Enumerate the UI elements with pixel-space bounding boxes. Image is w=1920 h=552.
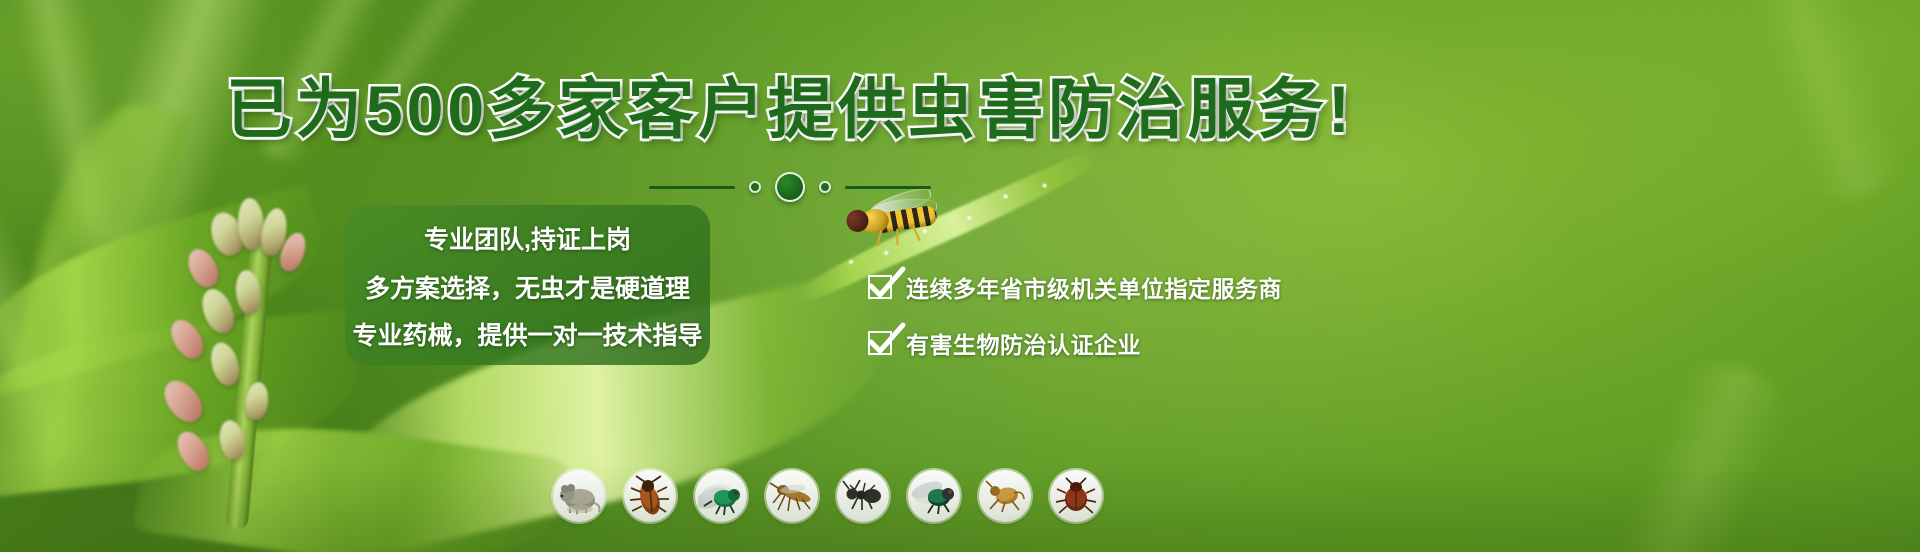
divider-line-left — [649, 186, 735, 189]
cockroach-icon[interactable] — [624, 470, 676, 522]
ant-icon[interactable] — [837, 470, 889, 522]
check-box-icon — [868, 331, 892, 355]
green-fly-icon[interactable] — [695, 470, 747, 522]
decorative-divider — [0, 172, 1580, 202]
selling-points-panel: 专业团队,持证上岗 多方案选择，无虫才是硬道理 专业药械，提供一对一技术指导 — [345, 205, 710, 365]
divider-dot-small-right — [819, 181, 831, 193]
credential-label: 连续多年省市级机关单位指定服务商 — [906, 270, 1282, 304]
mosquito-icon[interactable] — [766, 470, 818, 522]
divider-line-right — [845, 186, 931, 189]
rat-icon[interactable] — [553, 470, 605, 522]
promo-banner: 已为500多家客户提供虫害防治服务! 专业团队,持证上岗 多方案选择，无虫才是硬… — [0, 0, 1920, 552]
list-item: 有害生物防治认证企业 — [868, 326, 1282, 360]
selling-point-line: 专业团队,持证上岗 — [345, 220, 710, 256]
bedbug-icon[interactable] — [1050, 470, 1102, 522]
credentials-list: 连续多年省市级机关单位指定服务商 有害生物防治认证企业 — [868, 270, 1282, 360]
selling-point-line: 多方案选择，无虫才是硬道理 — [345, 269, 710, 305]
blowfly-icon[interactable] — [908, 470, 960, 522]
selling-point-line: 专业药械，提供一对一技术指导 — [345, 316, 710, 352]
credential-label: 有害生物防治认证企业 — [906, 326, 1141, 360]
flea-icon[interactable] — [979, 470, 1031, 522]
divider-dot-small-left — [749, 181, 761, 193]
list-item: 连续多年省市级机关单位指定服务商 — [868, 270, 1282, 304]
page-title: 已为500多家客户提供虫害防治服务! — [0, 76, 1580, 142]
pest-type-row — [553, 470, 1102, 522]
divider-dot-large — [775, 172, 805, 202]
check-box-icon — [868, 275, 892, 299]
